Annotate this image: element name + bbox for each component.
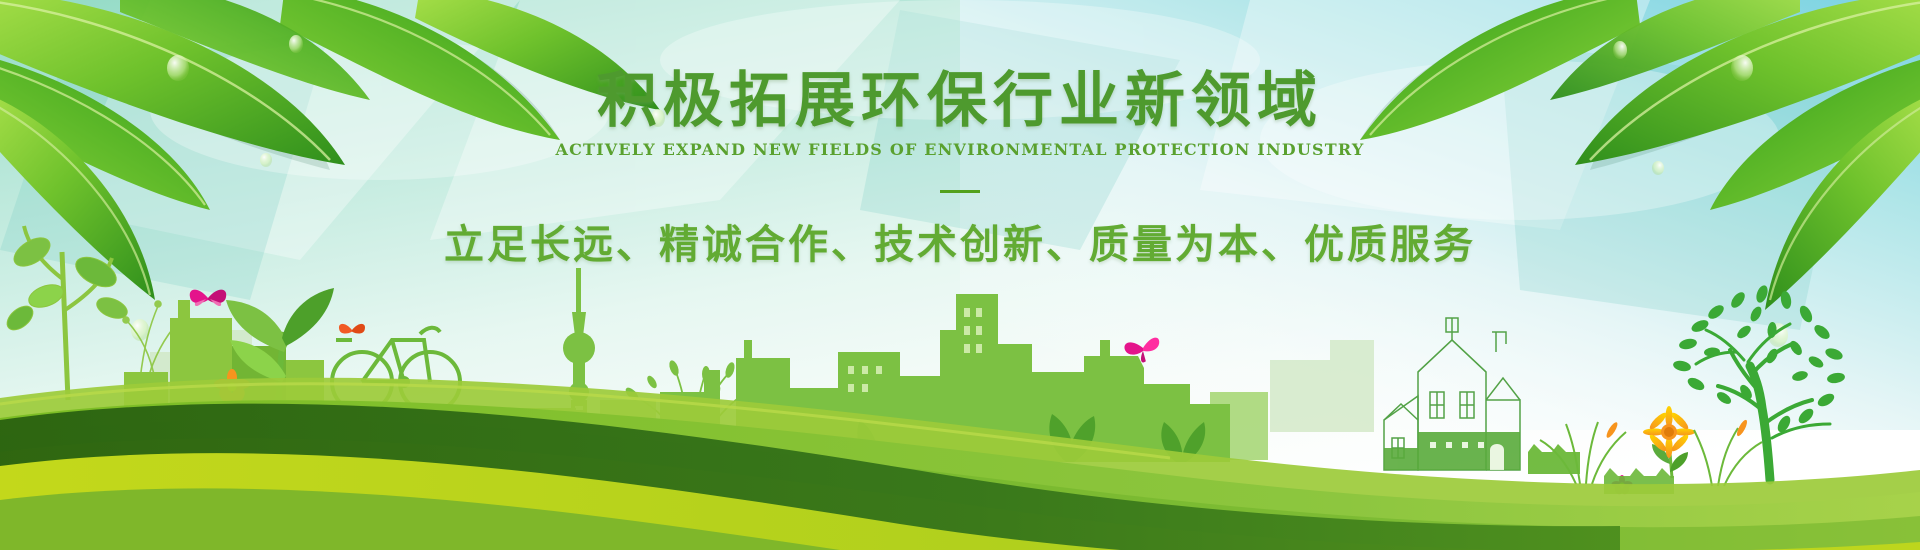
banner-illustration [0,0,1920,550]
eco-banner: 积极拓展环保行业新领域 ACTIVELY EXPAND NEW FIELDS O… [0,0,1920,550]
water-droplet-icon [167,55,189,81]
water-droplet-icon [1652,161,1664,175]
water-droplet-icon [1731,55,1753,81]
water-droplet-icon [651,109,665,127]
water-droplet-icon [1613,41,1627,59]
water-droplet-icon [260,153,272,167]
water-droplet-icon [289,35,303,53]
